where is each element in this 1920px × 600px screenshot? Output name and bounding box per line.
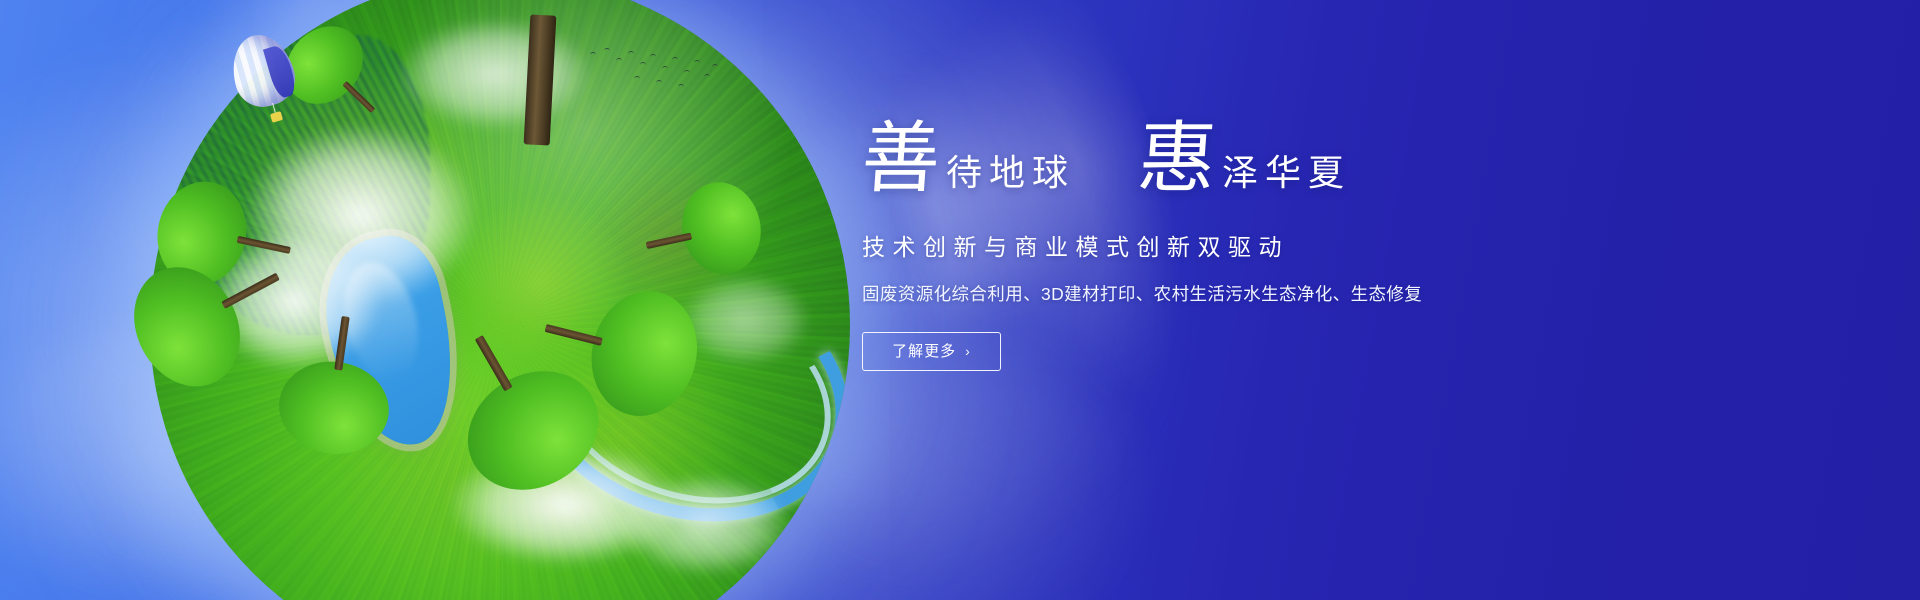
- chevron-right-icon: ›: [965, 344, 971, 358]
- learn-more-button[interactable]: 了解更多 ›: [862, 332, 1001, 371]
- page-subtitle: 技术创新与商业模式创新双驱动: [862, 228, 1602, 262]
- headline-lead-char-2: 惠: [1135, 120, 1218, 198]
- hero-copy: 善 待地球 惠 泽华夏 技术创新与商业模式创新双驱动 固废资源化综合利用、3D建…: [862, 120, 1602, 371]
- headline-group-2: 惠 泽华夏: [1138, 120, 1351, 198]
- surface-cloud: [680, 275, 810, 365]
- headline-rest-2: 泽华夏: [1222, 155, 1351, 191]
- hero-banner: 善 待地球 惠 泽华夏 技术创新与商业模式创新双驱动 固废资源化综合利用、3D建…: [0, 0, 1920, 600]
- page-description: 固废资源化综合利用、3D建材打印、农村生活污水生态净化、生态修复: [862, 281, 1602, 306]
- headline-lead-char-1: 善: [859, 120, 942, 198]
- bird-flock-icon: [588, 46, 718, 94]
- page-title: 善 待地球 惠 泽华夏: [862, 120, 1602, 206]
- surface-cloud: [620, 475, 790, 575]
- headline-rest-1: 待地球: [946, 155, 1075, 191]
- balloon-basket: [270, 111, 283, 123]
- headline-group-1: 善 待地球: [862, 120, 1075, 198]
- learn-more-label: 了解更多: [892, 344, 956, 359]
- tree-trunk: [524, 14, 557, 145]
